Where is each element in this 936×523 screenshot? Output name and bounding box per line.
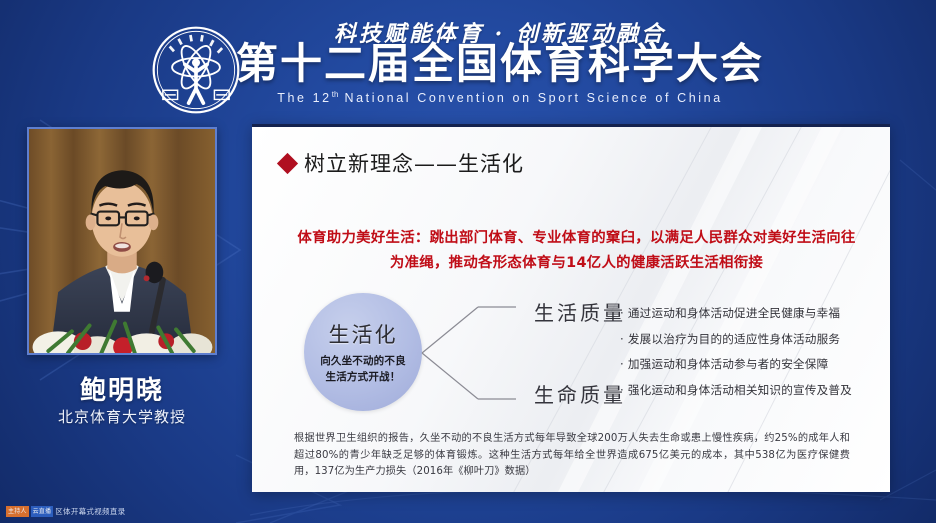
- presentation-slide: 树立新理念——生活化 体育助力美好生活：跳出部门体育、专业体育的窠臼，以满足人民…: [252, 124, 890, 492]
- speaker-photo: [29, 129, 215, 353]
- list-item: ·加强运动和身体活动参与者的安全保障: [620, 359, 878, 371]
- bullet-marker-icon: ·: [620, 332, 624, 346]
- bullet-text: 加强运动和身体活动参与者的安全保障: [628, 357, 829, 371]
- bullet-marker-icon: ·: [620, 306, 624, 320]
- bullet-text: 强化运动和身体活动相关知识的宣传及普及: [628, 383, 852, 397]
- slide-title: 树立新理念——生活化: [280, 148, 524, 178]
- bullet-marker-icon: ·: [620, 383, 624, 397]
- diamond-bullet-icon: [277, 152, 298, 173]
- bullet-marker-icon: ·: [620, 357, 624, 371]
- bullet-text: 通过运动和身体活动促进全民健康与幸福: [628, 306, 840, 320]
- conference-header: 科技赋能体育 · 创新驱动融合 第十二届全国体育科学大会 The 12th Na…: [0, 0, 936, 118]
- speaker-affiliation: 北京体育大学教授: [17, 406, 227, 427]
- conference-emblem-icon: [150, 24, 242, 116]
- branch-label-2: 生命质量: [534, 379, 626, 408]
- concept-circle-subtitle-line2: 生活方式开战！: [320, 370, 406, 385]
- list-item: ·通过运动和身体活动促进全民健康与幸福: [620, 308, 878, 320]
- watermark-badge-host: 主持人: [6, 506, 29, 517]
- speaker-name: 鲍明晓: [27, 370, 217, 407]
- header-english-post: National Convention on Sport Science of …: [338, 91, 722, 105]
- slide-stage: 科技赋能体育 · 创新驱动融合 第十二届全国体育科学大会 The 12th Na…: [0, 0, 936, 523]
- slide-lead-statement: 体育助力美好生活：跳出部门体育、专业体育的窠臼，以满足人民群众对美好生活向往为准…: [294, 226, 859, 276]
- concept-circle-title: 生活化: [329, 319, 398, 349]
- list-item: ·发展以治疗为目的的适应性身体活动服务: [620, 334, 878, 346]
- bullet-text: 发展以治疗为目的的适应性身体活动服务: [628, 332, 840, 346]
- bullet-list: ·通过运动和身体活动促进全民健康与幸福 ·发展以治疗为目的的适应性身体活动服务 …: [620, 308, 878, 410]
- concept-circle-subtitle: 向久坐不动的不良 生活方式开战！: [320, 354, 406, 384]
- slide-footnote: 根据世界卫生组织的报告，久坐不动的不良生活方式每年导致全球200万人失去生命或患…: [294, 431, 850, 481]
- header-main-title: 第十二届全国体育科学大会: [230, 42, 770, 86]
- speaker-photo-frame: [27, 127, 217, 355]
- slide-title-text: 树立新理念——生活化: [304, 148, 524, 178]
- header-english-pre: The 12: [277, 91, 332, 105]
- branch-label-1: 生活质量: [534, 297, 626, 326]
- list-item: ·强化运动和身体活动相关知识的宣传及普及: [620, 385, 878, 397]
- concept-circle: 生活化 向久坐不动的不良 生活方式开战！: [304, 293, 422, 411]
- broadcast-watermark: 主持人 云直播 区体开幕式视频直录: [6, 506, 125, 517]
- watermark-text: 区体开幕式视频直录: [55, 506, 125, 517]
- header-english-subtitle: The 12th National Convention on Sport Sc…: [230, 90, 770, 105]
- watermark-badge-live: 云直播: [31, 506, 54, 517]
- concept-circle-subtitle-line1: 向久坐不动的不良: [320, 354, 406, 369]
- branch-connector-lines: [420, 295, 532, 410]
